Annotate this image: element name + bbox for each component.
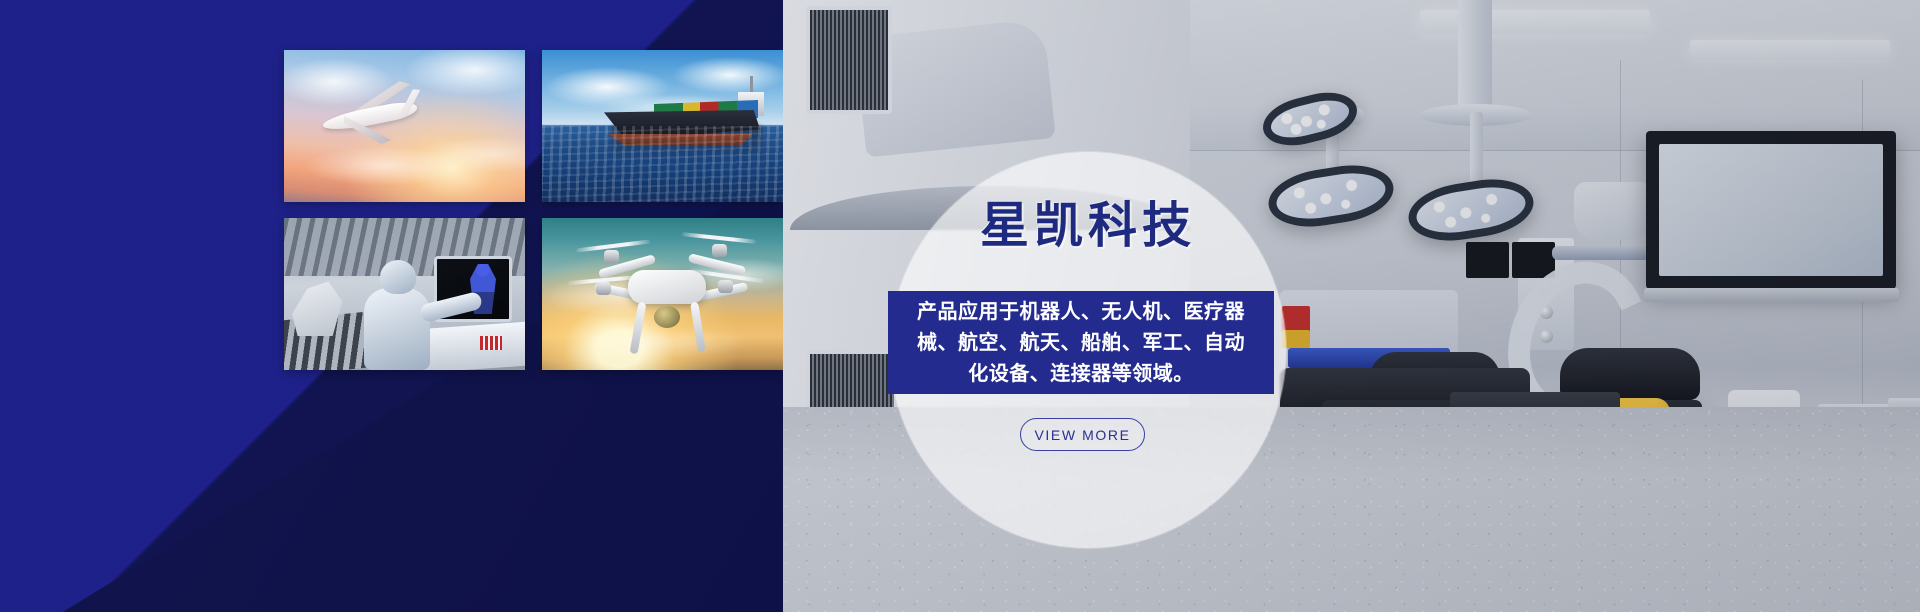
- drone-cloud-3: [572, 326, 752, 358]
- drone-motor-1: [604, 250, 619, 263]
- thumbnail-cargo-ship[interactable]: [542, 50, 783, 202]
- drone-propeller-2: [682, 232, 756, 244]
- thumbnail-grid: [284, 50, 783, 372]
- description-box: 产品应用于机器人、无人机、医疗器械、航空、航天、船舶、军工、自动化设备、连接器等…: [888, 291, 1274, 394]
- factory-robot-photo: [284, 218, 525, 370]
- description-text: 产品应用于机器人、无人机、医疗器械、航空、航天、船舶、军工、自动化设备、连接器等…: [909, 296, 1253, 389]
- cloud-2: [404, 50, 525, 96]
- drone-motor-3: [596, 282, 611, 295]
- humanoid-robot-body: [364, 288, 430, 370]
- console-red-keys: [480, 336, 502, 350]
- hero-banner: 星凯科技 产品应用于机器人、无人机、医疗器械、航空、航天、船舶、军工、自动化设备…: [0, 0, 1920, 612]
- drone-gimbal-camera: [654, 306, 680, 328]
- drone-sunset-photo: [542, 218, 783, 370]
- thumbnail-drone[interactable]: [542, 218, 783, 370]
- airplane-sunset-photo: [284, 50, 525, 202]
- view-more-button[interactable]: VIEW MORE: [1020, 418, 1145, 451]
- page-title: 星凯科技: [890, 186, 1286, 257]
- drone-motor-4: [718, 280, 733, 293]
- thumbnail-factory-robot[interactable]: [284, 218, 525, 370]
- thumbnail-airplane[interactable]: [284, 50, 525, 202]
- cargo-ship-photo: [542, 50, 783, 202]
- drone-body: [628, 270, 706, 304]
- drone-motor-2: [712, 244, 727, 257]
- sky-cloud-2: [670, 56, 783, 94]
- humanoid-robot-head: [380, 260, 416, 294]
- left-blue-panel: [0, 0, 783, 612]
- sea-surface: [542, 126, 783, 202]
